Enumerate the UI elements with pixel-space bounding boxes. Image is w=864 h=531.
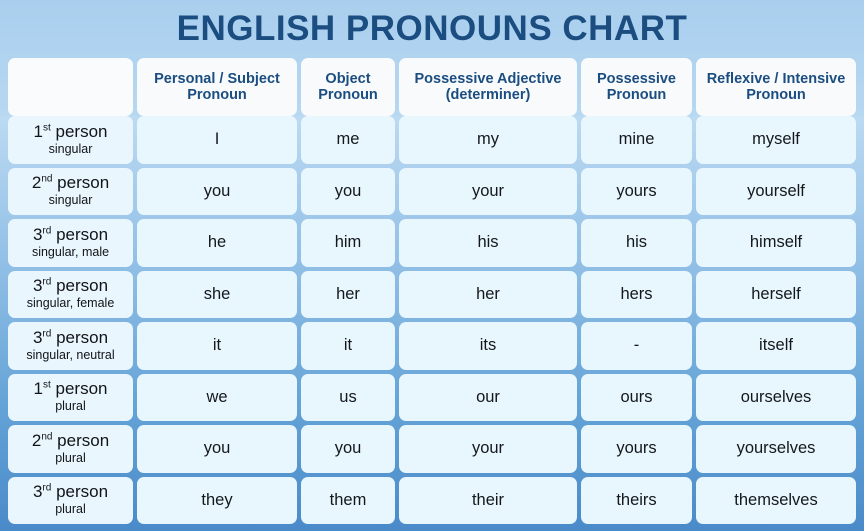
row-person-word: person xyxy=(57,431,109,450)
row-label-detail: plural xyxy=(55,502,86,517)
header-line-1: Reflexive / Intensive xyxy=(707,71,846,87)
row-person-ordinal-suffix: rd xyxy=(42,225,51,236)
data-cell: your xyxy=(399,168,577,216)
row-label-person: 3rd person xyxy=(33,329,108,347)
row-label-detail: singular xyxy=(49,142,93,157)
row-person-ordinal-suffix: nd xyxy=(41,431,52,442)
data-cell: his xyxy=(581,219,692,267)
table-row: 3rd personsingular, malehehimhishishimse… xyxy=(8,219,856,267)
data-cell: himself xyxy=(696,219,856,267)
table-body: 1st personsingularImemyminemyself2nd per… xyxy=(0,116,864,531)
data-cell: me xyxy=(301,116,395,164)
row-person-word: person xyxy=(56,276,108,295)
table-header-row: Personal / Subject Pronoun Object Pronou… xyxy=(0,58,864,116)
data-cell: mine xyxy=(581,116,692,164)
row-label-cell: 1st personsingular xyxy=(8,116,133,164)
data-cell: it xyxy=(137,322,297,370)
data-cell: - xyxy=(581,322,692,370)
row-label-detail: plural xyxy=(55,399,86,414)
row-person-word: person xyxy=(57,173,109,192)
row-person-number: 2 xyxy=(32,173,41,192)
row-label-cell: 3rd personsingular, female xyxy=(8,271,133,319)
title-band: ENGLISH PRONOUNS CHART xyxy=(0,0,864,58)
row-person-word: person xyxy=(56,225,108,244)
row-label-person: 3rd person xyxy=(33,277,108,295)
data-cell: your xyxy=(399,425,577,473)
header-line-2: Pronoun xyxy=(746,87,806,103)
data-cell: their xyxy=(399,477,577,525)
data-cell: yourselves xyxy=(696,425,856,473)
row-person-number: 3 xyxy=(33,225,42,244)
row-label-cell: 2nd personsingular xyxy=(8,168,133,216)
data-cell: you xyxy=(301,425,395,473)
data-cell: themselves xyxy=(696,477,856,525)
data-cell: myself xyxy=(696,116,856,164)
data-cell: my xyxy=(399,116,577,164)
data-cell: our xyxy=(399,374,577,422)
data-cell: we xyxy=(137,374,297,422)
row-person-number: 2 xyxy=(32,431,41,450)
table-row: 1st personpluralweusouroursourselves xyxy=(8,374,856,422)
row-label-cell: 3rd personsingular, neutral xyxy=(8,322,133,370)
row-label-cell: 3rd personplural xyxy=(8,477,133,525)
row-label-cell: 2nd personplural xyxy=(8,425,133,473)
row-person-ordinal-suffix: nd xyxy=(41,174,52,185)
pronouns-chart-root: ENGLISH PRONOUNS CHART Personal / Subjec… xyxy=(0,0,864,531)
row-label-person: 3rd person xyxy=(33,226,108,244)
row-person-ordinal-suffix: rd xyxy=(42,483,51,494)
data-cell: yourself xyxy=(696,168,856,216)
row-label-detail: singular, male xyxy=(32,245,109,260)
data-cell: hers xyxy=(581,271,692,319)
data-cell: them xyxy=(301,477,395,525)
row-label-person: 1st person xyxy=(34,123,108,141)
table-row: 2nd personsingularyouyouyouryoursyoursel… xyxy=(8,168,856,216)
row-label-person: 2nd person xyxy=(32,174,109,192)
data-cell: she xyxy=(137,271,297,319)
data-cell: they xyxy=(137,477,297,525)
header-cell-object-pronoun: Object Pronoun xyxy=(301,58,395,116)
header-line-1: Object xyxy=(325,71,370,87)
row-label-cell: 3rd personsingular, male xyxy=(8,219,133,267)
data-cell: yours xyxy=(581,425,692,473)
row-person-number: 1 xyxy=(34,122,43,141)
row-label-person: 3rd person xyxy=(33,483,108,501)
data-cell: theirs xyxy=(581,477,692,525)
row-person-word: person xyxy=(56,482,108,501)
header-cell-reflexive-intensive-pronoun: Reflexive / Intensive Pronoun xyxy=(696,58,856,116)
header-line-1: Possessive xyxy=(597,71,676,87)
row-label-detail: singular, neutral xyxy=(26,348,114,363)
row-person-ordinal-suffix: st xyxy=(43,122,51,133)
table-row: 3rd personpluraltheythemtheirtheirsthems… xyxy=(8,477,856,525)
data-cell: yours xyxy=(581,168,692,216)
data-cell: herself xyxy=(696,271,856,319)
row-person-number: 3 xyxy=(33,482,42,501)
row-person-word: person xyxy=(56,122,108,141)
table-row: 1st personsingularImemyminemyself xyxy=(8,116,856,164)
table-row: 3rd personsingular, femalesheherherhersh… xyxy=(8,271,856,319)
row-label-detail: plural xyxy=(55,451,86,466)
header-line-2: (determiner) xyxy=(446,87,531,103)
row-label-person: 1st person xyxy=(34,380,108,398)
row-person-ordinal-suffix: rd xyxy=(42,277,51,288)
table-row: 2nd personpluralyouyouyouryoursyourselve… xyxy=(8,425,856,473)
row-label-cell: 1st personplural xyxy=(8,374,133,422)
header-line-1: Possessive Adjective xyxy=(415,71,562,87)
header-cell-personal-subject-pronoun: Personal / Subject Pronoun xyxy=(137,58,297,116)
data-cell: you xyxy=(137,425,297,473)
data-cell: him xyxy=(301,219,395,267)
data-cell: his xyxy=(399,219,577,267)
row-person-word: person xyxy=(56,379,108,398)
row-person-word: person xyxy=(56,328,108,347)
data-cell: I xyxy=(137,116,297,164)
row-label-detail: singular xyxy=(49,193,93,208)
row-person-ordinal-suffix: rd xyxy=(42,328,51,339)
row-label-person: 2nd person xyxy=(32,432,109,450)
header-line-2: Pronoun xyxy=(187,87,247,103)
data-cell: you xyxy=(137,168,297,216)
header-cell-possessive-adjective: Possessive Adjective (determiner) xyxy=(399,58,577,116)
data-cell: ours xyxy=(581,374,692,422)
header-line-1: Personal / Subject xyxy=(154,71,280,87)
data-cell: its xyxy=(399,322,577,370)
page-title: ENGLISH PRONOUNS CHART xyxy=(177,9,688,49)
row-person-number: 3 xyxy=(33,328,42,347)
header-cell-corner xyxy=(8,58,133,116)
data-cell: you xyxy=(301,168,395,216)
table-row: 3rd personsingular, neutralititits-itsel… xyxy=(8,322,856,370)
header-line-2: Pronoun xyxy=(318,87,378,103)
row-person-ordinal-suffix: st xyxy=(43,380,51,391)
row-label-detail: singular, female xyxy=(27,296,115,311)
header-cell-possessive-pronoun: Possessive Pronoun xyxy=(581,58,692,116)
data-cell: it xyxy=(301,322,395,370)
data-cell: her xyxy=(301,271,395,319)
data-cell: itself xyxy=(696,322,856,370)
header-line-2: Pronoun xyxy=(607,87,667,103)
data-cell: ourselves xyxy=(696,374,856,422)
row-person-number: 1 xyxy=(34,379,43,398)
data-cell: he xyxy=(137,219,297,267)
data-cell: her xyxy=(399,271,577,319)
row-person-number: 3 xyxy=(33,276,42,295)
data-cell: us xyxy=(301,374,395,422)
